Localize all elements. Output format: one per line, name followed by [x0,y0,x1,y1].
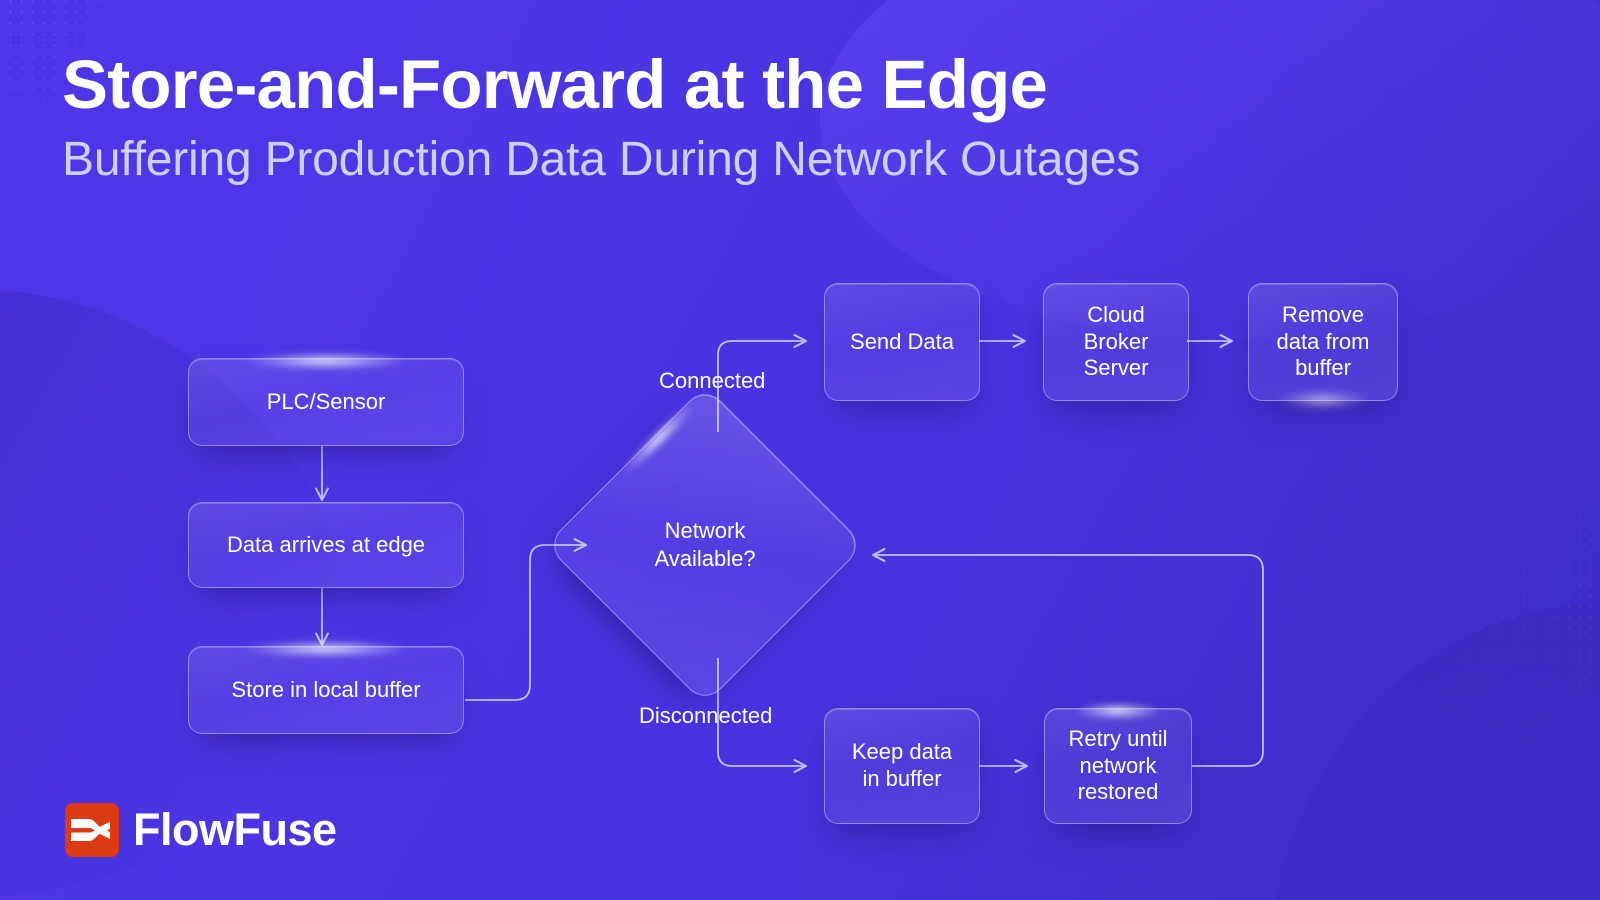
flow-node-network-available[interactable]: Network Available? [592,432,818,658]
flow-node-label: Data arrives at edge [227,532,425,559]
flow-node-label-line: in buffer [852,766,952,793]
flow-node-retry-network[interactable]: Retry until network restored [1044,708,1192,824]
flow-node-label-wrap: Cloud Broker Server [1084,302,1149,382]
edge-label-disconnected: Disconnected [639,703,772,729]
infographic-canvas: Store-and-Forward at the Edge Buffering … [0,0,1600,900]
flow-node-label: PLC/Sensor [267,389,386,416]
flow-node-label-wrap: Retry until network restored [1068,726,1167,806]
flow-node-data-arrives[interactable]: Data arrives at edge [188,502,464,588]
flow-node-label-wrap: Keep data in buffer [852,739,952,793]
flow-node-send-data[interactable]: Send Data [824,283,980,401]
flow-node-label-line: Remove [1277,302,1370,329]
flow-node-label: Send Data [850,329,954,356]
flowfuse-wordmark: FlowFuse [133,804,337,856]
flow-node-label-line: data from [1277,329,1370,356]
flow-node-store-buffer[interactable]: Store in local buffer [188,646,464,734]
flow-node-label-line: Available? [654,545,755,573]
flow-node-label-line: Keep data [852,739,952,766]
flow-node-keep-data[interactable]: Keep data in buffer [824,708,980,824]
flow-node-label-line: network [1068,753,1167,780]
flow-node-plc-sensor[interactable]: PLC/Sensor [188,358,464,446]
flow-node-label-wrap: Network Available? [592,432,818,658]
flow-node-label-wrap: Remove data from buffer [1277,302,1370,382]
flowfuse-logo-mark [65,803,119,857]
flowfuse-logo[interactable]: FlowFuse [65,803,337,857]
flow-node-cloud-broker[interactable]: Cloud Broker Server [1043,283,1189,401]
flow-node-label: Store in local buffer [231,677,420,704]
flow-node-label-line: Broker [1084,329,1149,356]
flow-node-label-line: restored [1068,779,1167,806]
flow-node-label-line: Cloud [1084,302,1149,329]
flow-node-label-line: Network [665,517,746,545]
flow-node-remove-data[interactable]: Remove data from buffer [1248,283,1398,401]
flow-diagram: PLC/Sensor Data arrives at edge Store in… [0,0,1600,900]
flow-node-label-line: Server [1084,355,1149,382]
flow-node-label-line: buffer [1277,355,1370,382]
edge-label-connected: Connected [659,368,765,394]
flow-node-label-line: Retry until [1068,726,1167,753]
